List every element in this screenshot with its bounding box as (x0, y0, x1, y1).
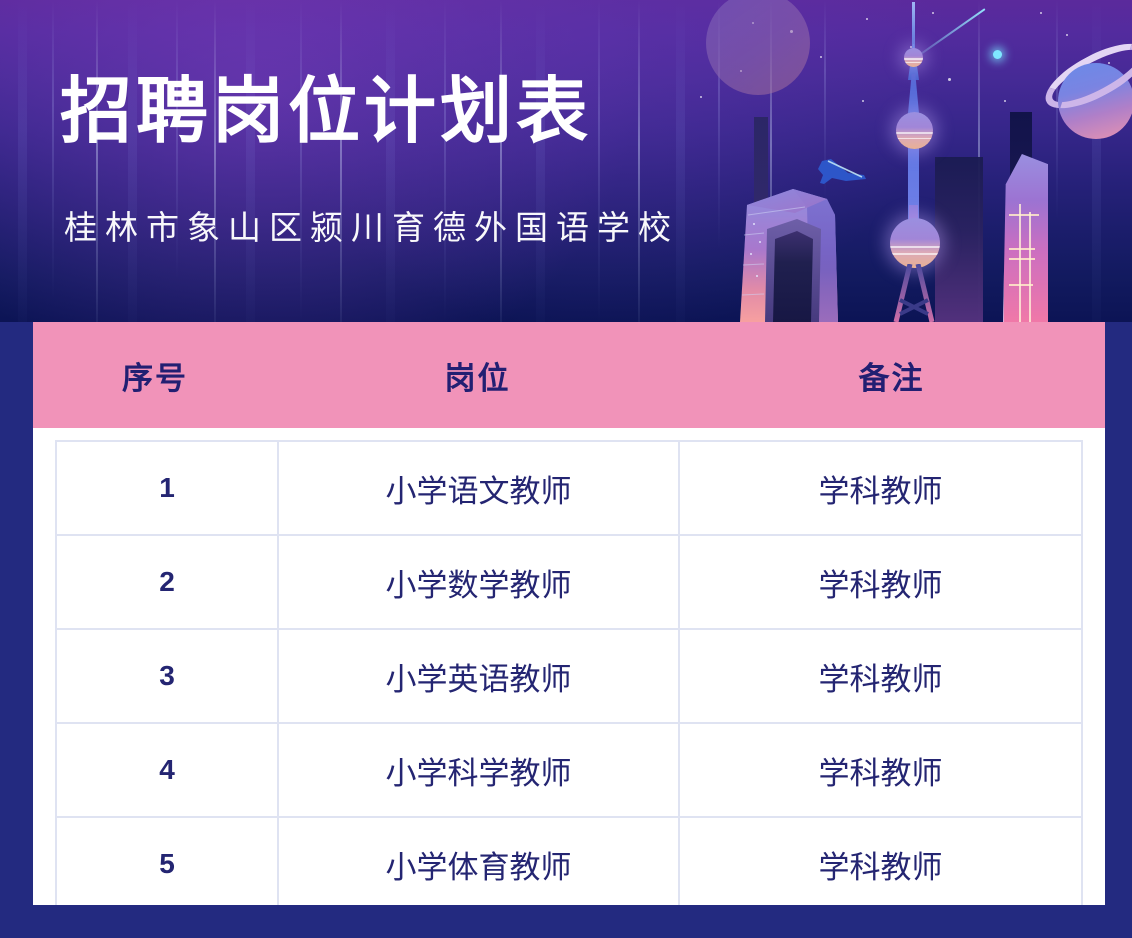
saturn-planet-icon (1048, 45, 1132, 185)
cell-note: 学科教师 (680, 630, 1083, 722)
cell-position: 小学数学教师 (279, 536, 680, 628)
pearl-tower-icon (888, 0, 940, 322)
footer-band (0, 905, 1132, 938)
table-row: 3 小学英语教师 学科教师 (57, 630, 1083, 724)
table-row: 2 小学数学教师 学科教师 (57, 536, 1083, 630)
cell-index: 1 (57, 442, 279, 534)
table-header-row: 序号 岗位 备注 (33, 322, 1105, 428)
cell-note: 学科教师 (680, 818, 1083, 910)
pink-skyscraper-windows (1003, 154, 1047, 322)
table-row: 1 小学语文教师 学科教师 (57, 442, 1083, 536)
page-title: 招聘岗位计划表 (60, 76, 592, 148)
cell-index: 4 (57, 724, 279, 816)
table-grid: 1 小学语文教师 学科教师 2 小学数学教师 学科教师 3 小学英语教师 学科教… (55, 440, 1083, 912)
cell-index: 3 (57, 630, 279, 722)
column-header-note: 备注 (678, 322, 1105, 428)
page-subtitle: 桂林市象山区颍川育德外国语学校 (64, 208, 679, 248)
cell-position: 小学语文教师 (279, 442, 680, 534)
banner-hero: 招聘岗位计划表 桂林市象山区颍川育德外国语学校 (0, 0, 1132, 322)
cell-note: 学科教师 (680, 724, 1083, 816)
skyscraper-icon (935, 157, 983, 322)
cell-position: 小学体育教师 (279, 818, 680, 910)
table-row: 5 小学体育教师 学科教师 (57, 818, 1083, 912)
cell-note: 学科教师 (680, 536, 1083, 628)
table-header-card: 序号 岗位 备注 (33, 322, 1105, 428)
cell-note: 学科教师 (680, 442, 1083, 534)
poster-page: 招聘岗位计划表 桂林市象山区颍川育德外国语学校 序号 岗位 备注 1 小学语文教… (0, 0, 1132, 938)
cell-position: 小学英语教师 (279, 630, 680, 722)
column-header-index: 序号 (33, 322, 277, 428)
table-body-card: 1 小学语文教师 学科教师 2 小学数学教师 学科教师 3 小学英语教师 学科教… (33, 428, 1105, 905)
table-row: 4 小学科学教师 学科教师 (57, 724, 1083, 818)
cell-index: 5 (57, 818, 279, 910)
arch-building-icon (735, 167, 865, 322)
cell-position: 小学科学教师 (279, 724, 680, 816)
cell-index: 2 (57, 536, 279, 628)
airplane-icon (818, 155, 870, 187)
column-header-position: 岗位 (277, 322, 678, 428)
